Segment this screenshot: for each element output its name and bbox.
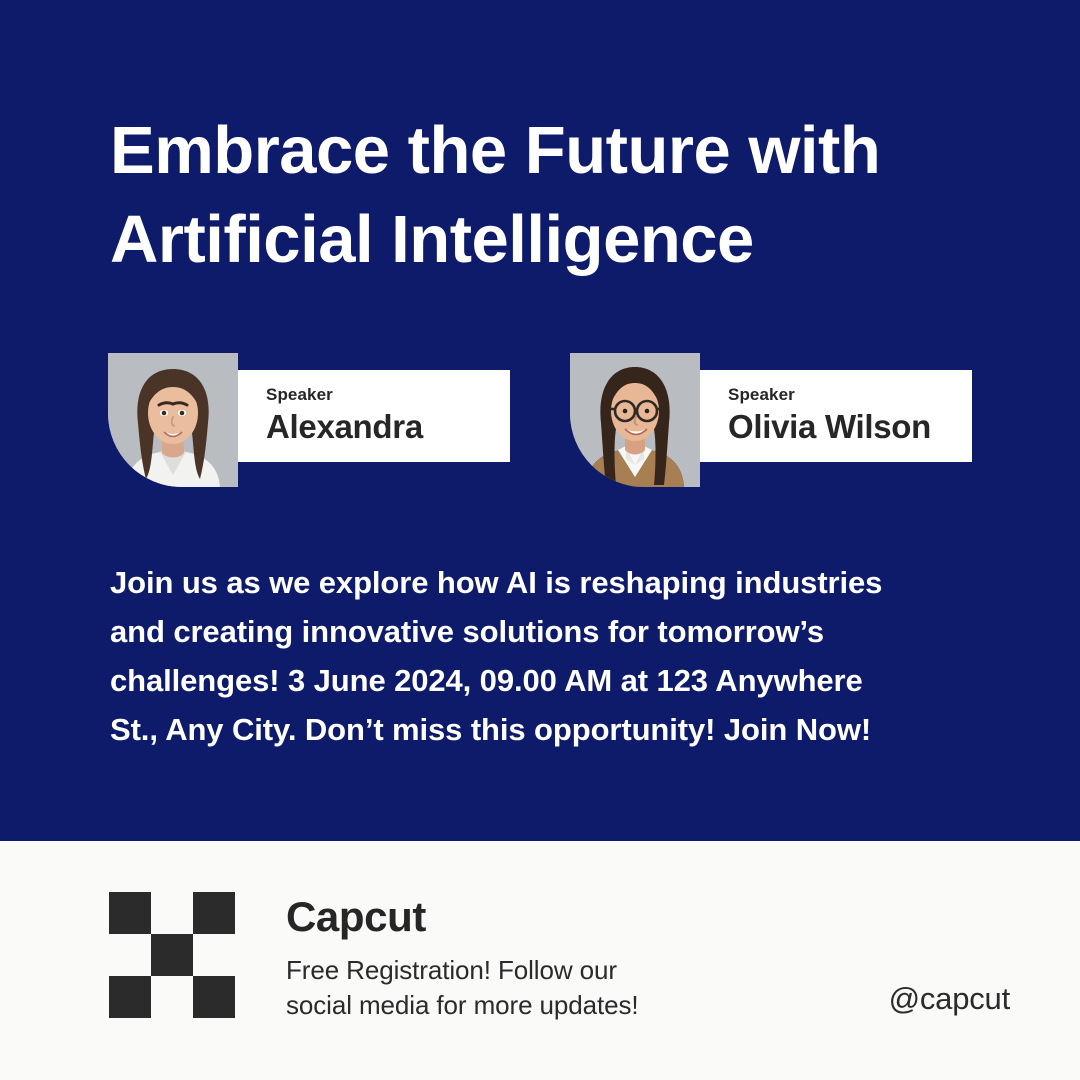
logo-cell-5	[151, 934, 193, 976]
description-line-2: and creating innovative solutions for to…	[110, 607, 990, 656]
speaker-photo-olivia	[570, 353, 700, 487]
tagline-line-2: social media for more updates!	[286, 988, 756, 1023]
page-title: Embrace the Future with Artificial Intel…	[110, 106, 1010, 284]
checkerboard-x-logo-icon	[109, 892, 235, 1018]
logo-cell-2	[151, 892, 193, 934]
speaker-name-label: Olivia Wilson	[728, 406, 972, 448]
description-line-3: challenges! 3 June 2024, 09.00 AM at 123…	[110, 656, 990, 705]
speaker-nameplate-alexandra: Speaker Alexandra	[238, 370, 510, 462]
brand-block: Capcut Free Registration! Follow our soc…	[286, 891, 756, 1023]
description-line-4: St., Any City. Don’t miss this opportuni…	[110, 705, 990, 754]
speaker-photo-alexandra	[108, 353, 238, 487]
logo-cell-4	[109, 934, 151, 976]
speaker-name-label: Alexandra	[266, 406, 510, 448]
logo-cell-3	[193, 892, 235, 934]
social-handle[interactable]: @capcut	[889, 981, 1010, 1017]
logo-cell-6	[193, 934, 235, 976]
speaker-list: Speaker Alexandra	[0, 353, 1080, 493]
brand-tagline: Free Registration! Follow our social med…	[286, 953, 756, 1023]
logo-cell-9	[193, 976, 235, 1018]
hero-panel: Embrace the Future with Artificial Intel…	[0, 0, 1080, 841]
brand-name: Capcut	[286, 891, 756, 943]
speaker-role-label: Speaker	[728, 385, 972, 405]
logo-cell-8	[151, 976, 193, 1018]
headline-line-2: Artificial Intelligence	[110, 195, 1010, 284]
logo-cell-1	[109, 892, 151, 934]
event-description: Join us as we explore how AI is reshapin…	[110, 558, 990, 754]
speaker-nameplate-olivia: Speaker Olivia Wilson	[700, 370, 972, 462]
description-line-1: Join us as we explore how AI is reshapin…	[110, 558, 990, 607]
headline-line-1: Embrace the Future with	[110, 106, 1010, 195]
tagline-line-1: Free Registration! Follow our	[286, 953, 756, 988]
footer-panel: Capcut Free Registration! Follow our soc…	[0, 841, 1080, 1080]
speaker-role-label: Speaker	[266, 385, 510, 405]
logo-cell-7	[109, 976, 151, 1018]
event-poster: Embrace the Future with Artificial Intel…	[0, 0, 1080, 1080]
